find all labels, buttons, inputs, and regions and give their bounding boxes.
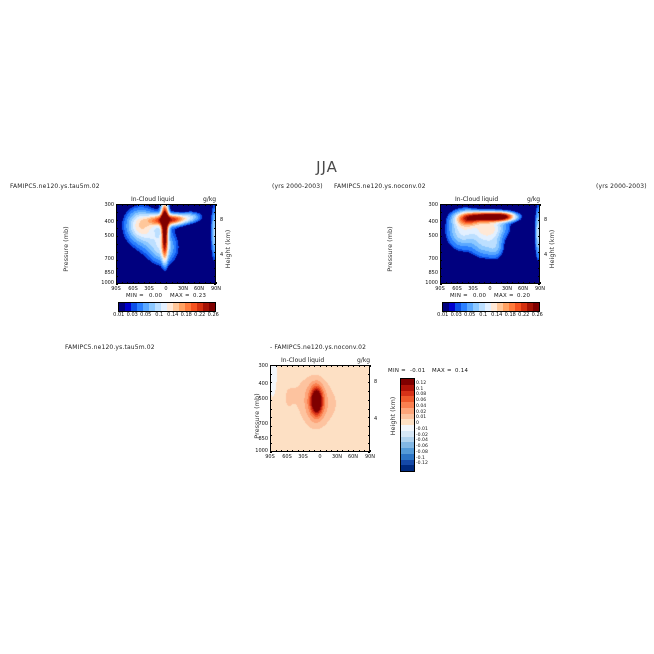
panel1-case-name: FAMIPC5.ne120.ys.tau5m.02 [10, 183, 100, 190]
axis-tick [281, 450, 282, 452]
axis-tick [529, 282, 530, 284]
panel3-units: g/kg [357, 357, 370, 364]
axis-tick [473, 282, 474, 284]
panel3-variable-name: In-Cloud liquid [281, 357, 324, 364]
axis-tick [473, 204, 474, 206]
axis-tick [457, 204, 458, 206]
axis-tick [368, 391, 370, 392]
colorbar-swatch [209, 303, 215, 311]
panel1-ytick-850: 850 [98, 270, 114, 276]
axis-tick [160, 204, 161, 206]
panel3-xtick-30S: 30S [295, 454, 311, 460]
axis-tick [368, 382, 370, 383]
colorbar-swatch [401, 465, 414, 471]
axis-tick [368, 417, 370, 418]
axis-tick [490, 204, 491, 206]
panel2-max-label: MAX = [494, 293, 514, 299]
panel2-min-label: MIN = [450, 293, 468, 299]
axis-tick [538, 276, 540, 277]
axis-tick [368, 409, 370, 410]
axis-tick [309, 450, 310, 452]
axis-tick [116, 268, 118, 269]
panel3-height-tick-4: 4 [374, 416, 377, 422]
axis-tick [133, 204, 134, 206]
panel3-height-tick-8: 8 [374, 379, 377, 385]
panel2-xtick-30S: 30S [465, 286, 481, 292]
axis-tick [214, 284, 216, 285]
axis-tick [214, 228, 216, 229]
axis-tick [216, 282, 217, 284]
axis-tick [440, 276, 442, 277]
panel1-ytick-500: 500 [98, 233, 114, 239]
axis-tick [155, 204, 156, 206]
axis-tick [183, 204, 184, 206]
axis-tick [127, 204, 128, 206]
axis-tick [446, 204, 447, 206]
axis-tick [205, 282, 206, 284]
axis-tick [166, 282, 167, 284]
panel3-case-name-left: FAMIPC5.ne120.ys.tau5m.02 [65, 344, 155, 351]
panel3-xtick-60N: 60N [345, 454, 361, 460]
colorbar-tick-label: 0.14 [166, 312, 180, 318]
colorbar-tick-label: -0.12 [416, 462, 428, 468]
panel2-xtick-0: 0 [482, 286, 498, 292]
axis-tick [205, 204, 206, 206]
axis-tick [451, 282, 452, 284]
axis-tick [177, 282, 178, 284]
axis-tick [538, 284, 540, 285]
axis-tick [451, 204, 452, 206]
axis-tick [368, 452, 370, 453]
axis-tick [440, 212, 442, 213]
axis-tick [292, 365, 293, 367]
axis-tick [160, 282, 161, 284]
axis-tick [370, 365, 371, 367]
panel1-units: g/kg [203, 196, 216, 203]
axis-tick [166, 204, 167, 206]
axis-tick [342, 450, 343, 452]
panel3-min-value: -0.01 [410, 368, 425, 374]
panel3-max-value: 0.14 [455, 368, 468, 374]
panel3-case-name-right: - FAMIPC5.ne120.ys.noconv.02 [270, 344, 366, 351]
axis-tick [440, 244, 442, 245]
axis-tick [440, 228, 442, 229]
axis-tick [457, 282, 458, 284]
axis-tick [529, 204, 530, 206]
axis-tick [194, 282, 195, 284]
panel3-right-axis-label: Height (km) [389, 385, 397, 447]
axis-tick [348, 365, 349, 367]
axis-tick [270, 391, 272, 392]
axis-tick [538, 244, 540, 245]
axis-tick [172, 282, 173, 284]
axis-tick [214, 252, 216, 253]
panel1-xtick-30N: 30N [175, 286, 191, 292]
panel-top-left: FAMIPC5.ne120.ys.tau5m.02 (yrs 2000-2003… [0, 180, 330, 340]
axis-tick [149, 204, 150, 206]
panel3-ytick-300: 300 [252, 363, 268, 369]
axis-tick [440, 252, 442, 253]
axis-tick [116, 252, 118, 253]
panel2-xtick-60N: 60N [515, 286, 531, 292]
panel2-ytick-400: 400 [422, 219, 438, 225]
axis-tick [116, 284, 118, 285]
axis-tick [512, 282, 513, 284]
colorbar-tick-label: 0.18 [504, 312, 518, 318]
axis-tick [199, 282, 200, 284]
colorbar-tick-label: 0.26 [531, 312, 545, 318]
axis-tick [538, 260, 540, 261]
axis-tick [512, 204, 513, 206]
panel1-y-axis-label: Pressure (mb) [62, 219, 70, 279]
axis-tick [353, 450, 354, 452]
panel2-min-value: 0.00 [473, 293, 486, 299]
season-title: JJA [0, 158, 654, 176]
axis-tick [116, 228, 118, 229]
colorbar-tick-label: 0.26 [207, 312, 221, 318]
axis-tick [116, 204, 118, 205]
panel2-colorbar[interactable] [442, 302, 540, 312]
panel1-years: (yrs 2000-2003) [272, 183, 323, 190]
colorbar-tick-label: 0.05 [463, 312, 477, 318]
axis-tick [298, 365, 299, 367]
panel2-variable-name: In-Cloud liquid [455, 196, 498, 203]
panel1-ytick-700: 700 [98, 256, 114, 262]
axis-tick [359, 365, 360, 367]
axis-tick [523, 282, 524, 284]
axis-tick [538, 220, 540, 221]
axis-tick [446, 282, 447, 284]
panel3-ytick-850: 850 [252, 436, 268, 442]
axis-tick [214, 276, 216, 277]
axis-tick [534, 204, 535, 206]
axis-tick [216, 204, 217, 206]
axis-tick [501, 204, 502, 206]
axis-tick [116, 276, 118, 277]
axis-tick [287, 450, 288, 452]
axis-tick [214, 260, 216, 261]
panel-difference: FAMIPC5.ne120.ys.tau5m.02 - FAMIPC5.ne12… [160, 340, 490, 490]
panel1-xtick-0: 0 [158, 286, 174, 292]
panel2-right-axis-label: Height (km) [548, 219, 556, 279]
axis-tick [270, 426, 272, 427]
axis-tick [188, 282, 189, 284]
axis-tick [214, 212, 216, 213]
axis-tick [116, 220, 118, 221]
axis-tick [326, 450, 327, 452]
panel1-variable-name: In-Cloud liquid [131, 196, 174, 203]
axis-tick [270, 400, 272, 401]
panel1-height-tick-4: 4 [220, 252, 223, 258]
axis-tick [214, 204, 216, 205]
axis-tick [507, 204, 508, 206]
panel3-xtick-60S: 60S [279, 454, 295, 460]
colorbar-tick-label: 0.22 [193, 312, 207, 318]
axis-tick [440, 204, 442, 205]
panel3-xtick-90N: 90N [362, 454, 378, 460]
axis-tick [496, 204, 497, 206]
axis-tick [270, 417, 272, 418]
axis-tick [538, 236, 540, 237]
axis-tick [270, 443, 272, 444]
axis-tick [368, 374, 370, 375]
axis-tick [155, 282, 156, 284]
axis-tick [518, 282, 519, 284]
panel2-ytick-300: 300 [422, 202, 438, 208]
panel1-min-value: 0.00 [149, 293, 162, 299]
axis-tick [214, 244, 216, 245]
axis-tick [314, 365, 315, 367]
axis-tick [214, 268, 216, 269]
panel3-plot-area[interactable] [270, 365, 370, 452]
axis-tick [538, 268, 540, 269]
axis-tick [194, 204, 195, 206]
axis-tick [538, 204, 540, 205]
axis-tick [518, 204, 519, 206]
axis-tick [122, 282, 123, 284]
axis-tick [501, 282, 502, 284]
axis-tick [144, 204, 145, 206]
panel2-case-name: FAMIPC5.ne120.ys.noconv.02 [334, 183, 426, 190]
axis-tick [199, 204, 200, 206]
panel1-height-tick-8: 8 [220, 217, 223, 223]
axis-tick [496, 282, 497, 284]
axis-tick [490, 282, 491, 284]
axis-tick [440, 260, 442, 261]
axis-tick [484, 282, 485, 284]
axis-tick [326, 365, 327, 367]
axis-tick [348, 450, 349, 452]
axis-tick [270, 382, 272, 383]
axis-tick [538, 228, 540, 229]
axis-tick [138, 282, 139, 284]
panel2-ytick-700: 700 [422, 256, 438, 262]
axis-tick [320, 450, 321, 452]
axis-tick [270, 435, 272, 436]
axis-tick [440, 268, 442, 269]
panel3-ytick-400: 400 [252, 381, 268, 387]
axis-tick [320, 365, 321, 367]
panel1-xtick-90S: 90S [108, 286, 124, 292]
axis-tick [440, 236, 442, 237]
axis-tick [462, 204, 463, 206]
panel2-xtick-90N: 90N [532, 286, 548, 292]
axis-tick [172, 204, 173, 206]
axis-tick [538, 212, 540, 213]
panel1-colorbar[interactable] [118, 302, 216, 312]
axis-tick [276, 365, 277, 367]
panel1-heatmap-canvas [117, 205, 216, 284]
axis-tick [188, 204, 189, 206]
axis-tick [368, 435, 370, 436]
axis-tick [368, 400, 370, 401]
panel1-max-value: 0.23 [193, 293, 206, 299]
panel1-min-label: MIN = [126, 293, 144, 299]
panel2-plot-area[interactable] [440, 204, 540, 284]
axis-tick [292, 450, 293, 452]
axis-tick [479, 204, 480, 206]
panel2-max-value: 0.20 [517, 293, 530, 299]
axis-tick [122, 204, 123, 206]
axis-tick [210, 204, 211, 206]
panel3-heatmap-canvas [271, 366, 370, 452]
colorbar-tick-label: 0.01 [436, 312, 450, 318]
axis-tick [331, 450, 332, 452]
colorbar-tick-label: 0.03 [126, 312, 140, 318]
panel1-xtick-60N: 60N [191, 286, 207, 292]
panel2-units: g/kg [527, 196, 540, 203]
axis-tick [116, 236, 118, 237]
axis-tick [138, 204, 139, 206]
colorbar-tick-label: 0.18 [180, 312, 194, 318]
axis-tick [331, 365, 332, 367]
axis-tick [309, 365, 310, 367]
panel1-ytick-300: 300 [98, 202, 114, 208]
colorbar-tick-label: 0.01 [112, 312, 126, 318]
axis-tick [276, 450, 277, 452]
axis-tick [149, 282, 150, 284]
axis-tick [303, 450, 304, 452]
axis-tick [468, 204, 469, 206]
panel3-xtick-90S: 90S [262, 454, 278, 460]
axis-tick [507, 282, 508, 284]
panel1-plot-area[interactable] [116, 204, 216, 284]
colorbar-tick-label: 0.1 [477, 312, 491, 318]
axis-tick [270, 374, 272, 375]
panel2-ytick-850: 850 [422, 270, 438, 276]
axis-tick [538, 252, 540, 253]
panel2-colorbar-ticks: 0.010.030.050.10.140.180.220.26 [436, 312, 544, 318]
panel1-xtick-30S: 30S [141, 286, 157, 292]
axis-tick [462, 282, 463, 284]
axis-tick [540, 204, 541, 206]
panel2-xtick-90S: 90S [432, 286, 448, 292]
panel1-ytick-400: 400 [98, 219, 114, 225]
axis-tick [468, 282, 469, 284]
panel3-ytick-500: 500 [252, 396, 268, 402]
axis-tick [127, 282, 128, 284]
colorbar-tick-label: 0.14 [490, 312, 504, 318]
panel3-xtick-0: 0 [312, 454, 328, 460]
panel1-right-axis-label: Height (km) [224, 219, 232, 279]
colorbar-swatch [533, 303, 539, 311]
axis-tick [523, 204, 524, 206]
panel2-height-tick-8: 8 [544, 217, 547, 223]
axis-tick [314, 450, 315, 452]
colorbar-tick-label: 0.05 [139, 312, 153, 318]
panel2-years: (yrs 2000-2003) [596, 183, 647, 190]
axis-tick [364, 365, 365, 367]
panel2-xtick-30N: 30N [499, 286, 515, 292]
panel2-height-tick-4: 4 [544, 252, 547, 258]
axis-tick [337, 450, 338, 452]
axis-tick [370, 450, 371, 452]
panel3-ytick-700: 700 [252, 421, 268, 427]
panel3-colorbar-ticks: 0.120.10.080.060.040.020.010-0.01-0.02-0… [416, 378, 428, 470]
panel3-xtick-30N: 30N [329, 454, 345, 460]
axis-tick [214, 220, 216, 221]
panel2-ytick-500: 500 [422, 233, 438, 239]
axis-tick [368, 365, 370, 366]
axis-tick [183, 282, 184, 284]
panel2-xtick-60S: 60S [449, 286, 465, 292]
axis-tick [287, 365, 288, 367]
colorbar-tick-label: 0.03 [450, 312, 464, 318]
axis-tick [270, 409, 272, 410]
axis-tick [116, 260, 118, 261]
axis-tick [364, 450, 365, 452]
axis-tick [116, 212, 118, 213]
axis-tick [534, 282, 535, 284]
axis-tick [359, 450, 360, 452]
panel1-max-label: MAX = [170, 293, 190, 299]
panel3-min-label: MIN = [388, 368, 406, 374]
axis-tick [368, 443, 370, 444]
panel3-max-label: MAX = [432, 368, 452, 374]
axis-tick [210, 282, 211, 284]
axis-tick [144, 282, 145, 284]
axis-tick [270, 365, 272, 366]
axis-tick [353, 365, 354, 367]
panel3-colorbar[interactable] [400, 378, 415, 472]
axis-tick [177, 204, 178, 206]
axis-tick [440, 284, 442, 285]
axis-tick [214, 236, 216, 237]
axis-tick [479, 282, 480, 284]
axis-tick [337, 365, 338, 367]
axis-tick [281, 365, 282, 367]
axis-tick [270, 452, 272, 453]
axis-tick [133, 282, 134, 284]
axis-tick [440, 220, 442, 221]
axis-tick [540, 282, 541, 284]
axis-tick [303, 365, 304, 367]
axis-tick [298, 450, 299, 452]
panel-top-right: FAMIPC5.ne120.ys.noconv.02 (yrs 2000-200… [324, 180, 654, 340]
panel2-y-axis-label: Pressure (mb) [386, 219, 394, 279]
panel2-heatmap-canvas [441, 205, 540, 284]
panel1-xtick-90N: 90N [208, 286, 224, 292]
colorbar-tick-label: 0.1 [153, 312, 167, 318]
colorbar-tick-label: 0.22 [517, 312, 531, 318]
axis-tick [342, 365, 343, 367]
panel1-colorbar-ticks: 0.010.030.050.10.140.180.220.26 [112, 312, 220, 318]
panel1-xtick-60S: 60S [125, 286, 141, 292]
axis-tick [368, 426, 370, 427]
axis-tick [116, 244, 118, 245]
axis-tick [484, 204, 485, 206]
